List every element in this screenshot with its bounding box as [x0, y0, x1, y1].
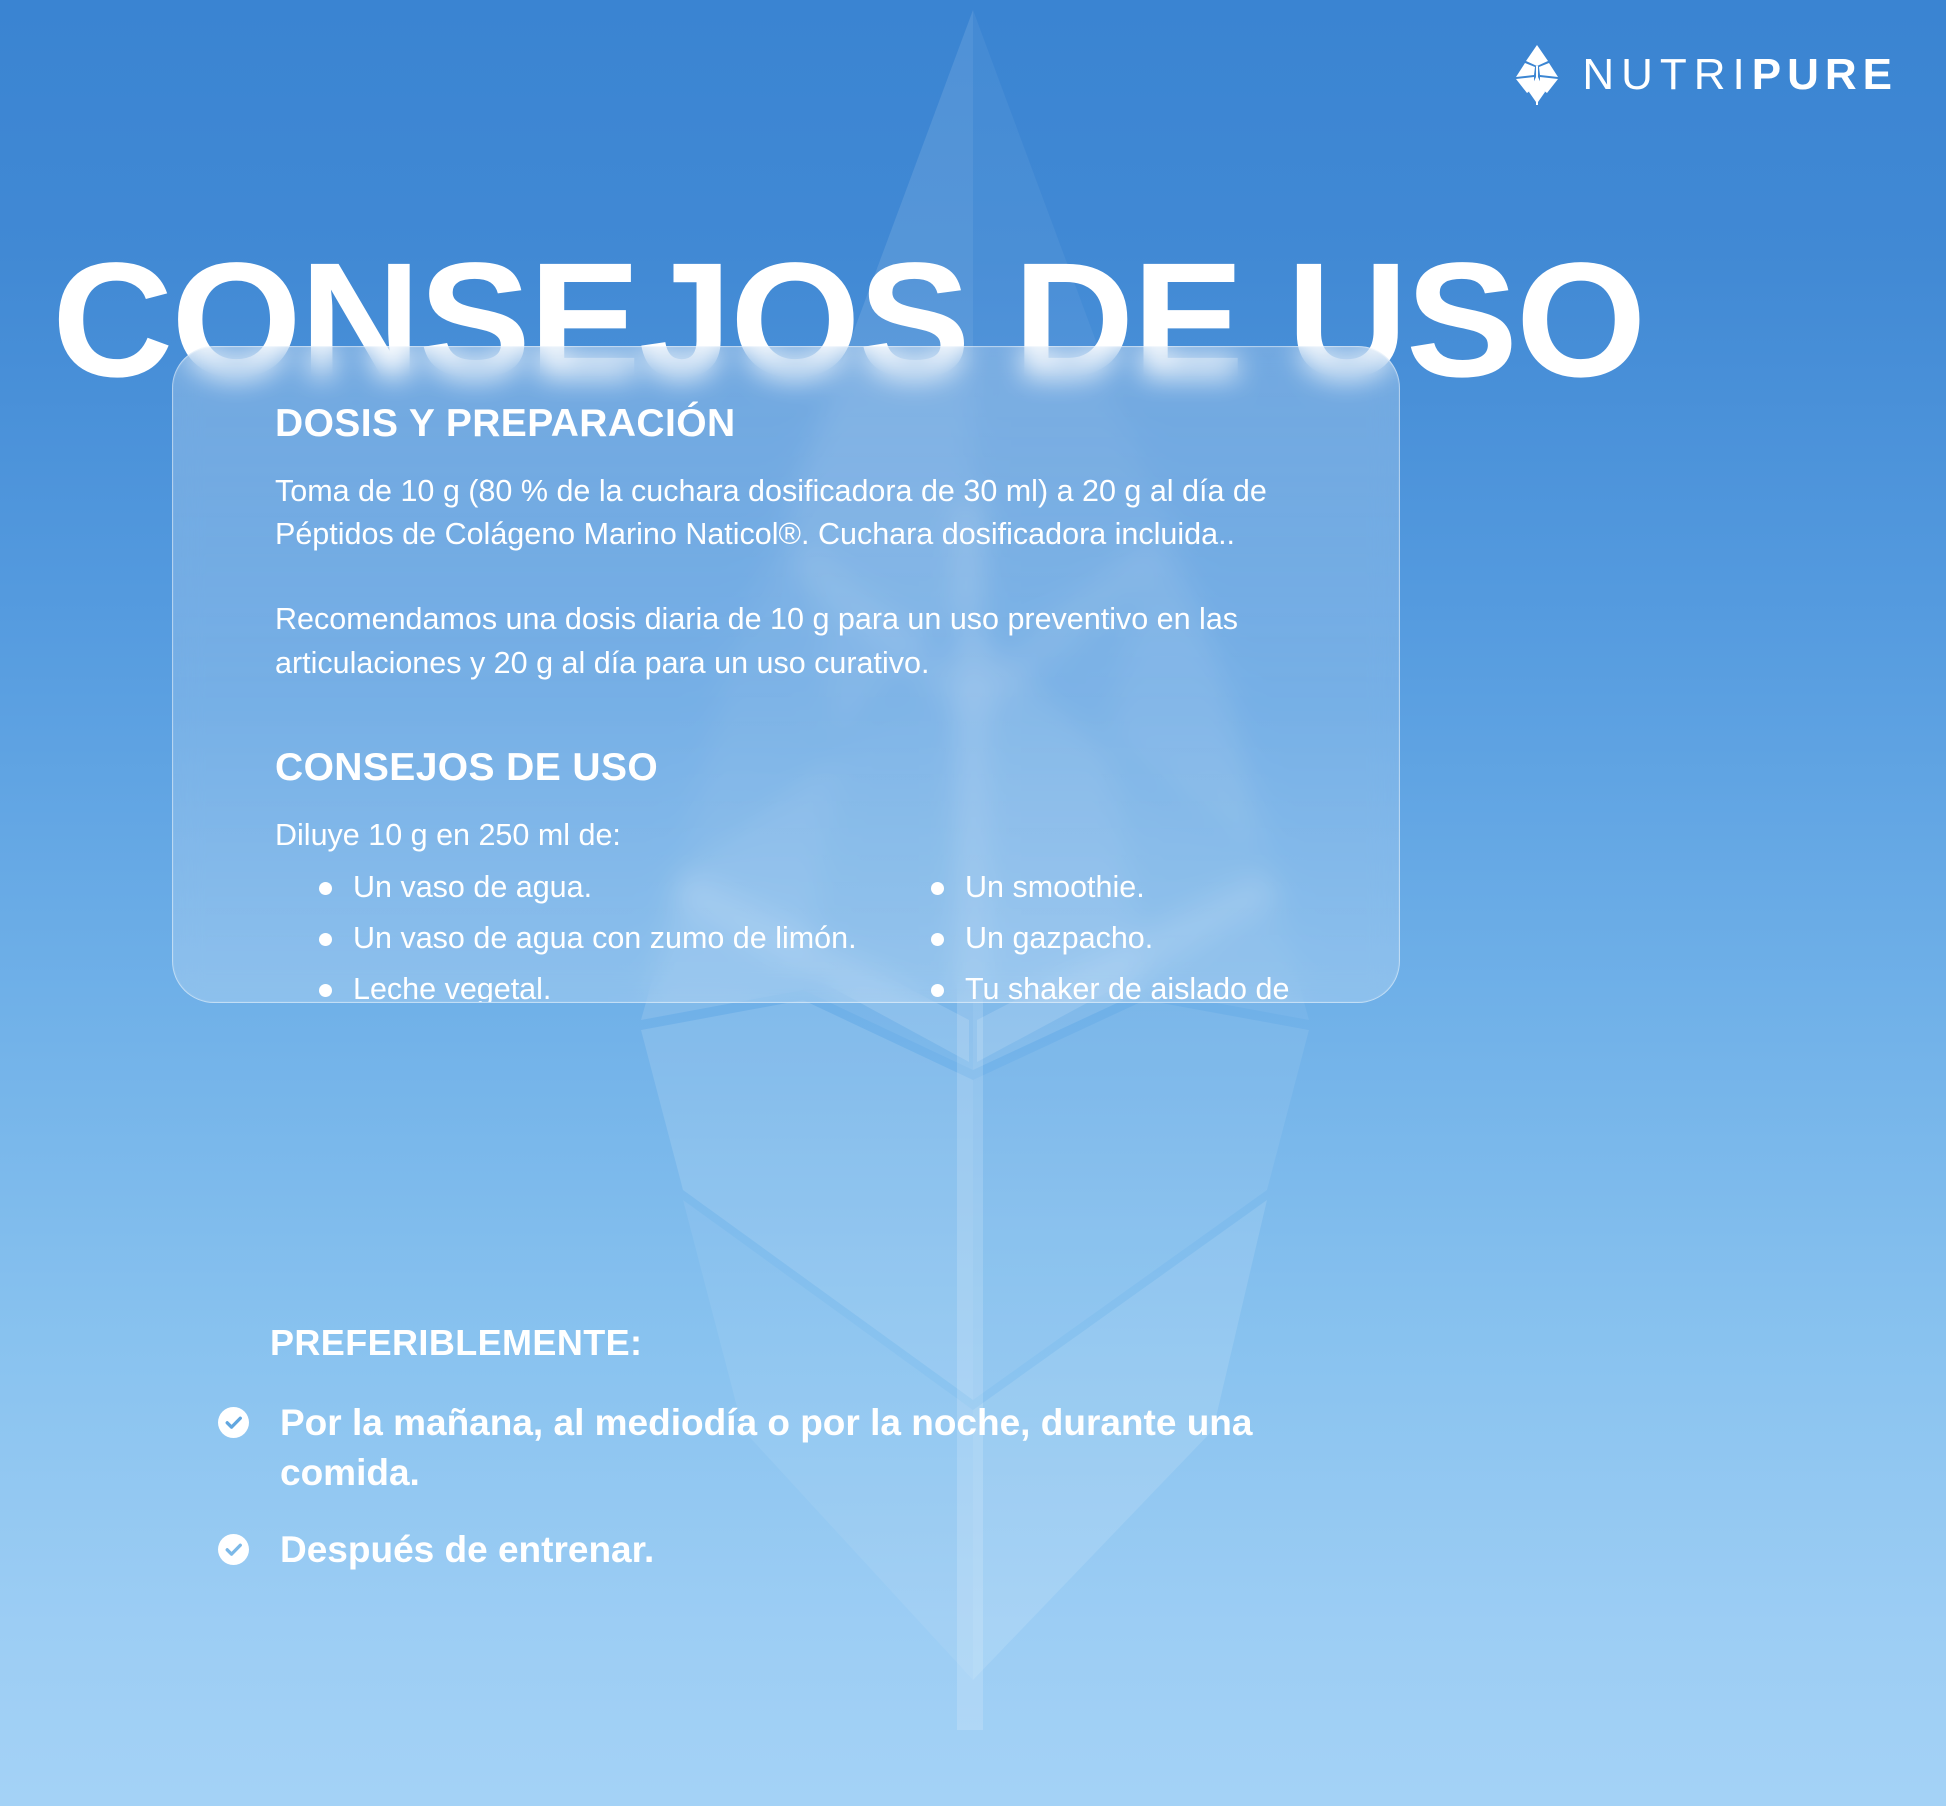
usage-lead-text: Diluye 10 g en 250 ml de:	[275, 814, 1341, 857]
list-item: Un gazpacho.	[931, 918, 1357, 960]
usage-columns: Un vaso de agua. Un vaso de agua con zum…	[275, 867, 1341, 1003]
preferred-section: PREFERIBLEMENTE: Por la mañana, al medio…	[270, 1322, 1570, 1603]
instructions-card: DOSIS Y PREPARACIÓN Toma de 10 g (80 % d…	[172, 346, 1400, 1003]
dosage-paragraph-2: Recomendamos una dosis diaria de 10 g pa…	[275, 598, 1275, 685]
leaf-icon	[1514, 44, 1560, 106]
usage-list-right: Un smoothie. Un gazpacho. Tu shaker de a…	[887, 867, 1357, 1003]
list-item: Por la mañana, al mediodía o por la noch…	[218, 1398, 1320, 1497]
brand-name-bold: PURE	[1752, 53, 1898, 97]
section-heading-dosage: DOSIS Y PREPARACIÓN	[275, 403, 1341, 446]
brand-wordmark: NUTRIPURE	[1582, 53, 1898, 97]
preferred-list: Por la mañana, al mediodía o por la noch…	[270, 1398, 1570, 1575]
poster-canvas: NUTRIPURE CONSEJOS DE USO DOSIS Y PREPAR…	[0, 0, 1946, 1806]
usage-list-left: Un vaso de agua. Un vaso de agua con zum…	[275, 867, 887, 1003]
list-item: Después de entrenar.	[218, 1525, 1320, 1575]
list-item: Tu shaker de aislado de suero de leche.	[931, 969, 1357, 1003]
usage-column-right: Un smoothie. Un gazpacho. Tu shaker de a…	[887, 867, 1357, 1003]
brand-name-light: NUTRI	[1582, 53, 1751, 97]
list-item: Leche vegetal.	[319, 969, 887, 1003]
list-item: Un vaso de agua con zumo de limón.	[319, 918, 887, 960]
list-item: Un vaso de agua.	[319, 867, 887, 909]
brand-logo: NUTRIPURE	[1514, 44, 1898, 106]
check-circle-icon	[218, 1534, 249, 1565]
list-item: Un smoothie.	[931, 867, 1357, 909]
section-heading-usage: CONSEJOS DE USO	[275, 747, 1341, 790]
preferred-item-text: Después de entrenar.	[280, 1529, 654, 1570]
usage-column-left: Un vaso de agua. Un vaso de agua con zum…	[275, 867, 887, 1003]
card-content: DOSIS Y PREPARACIÓN Toma de 10 g (80 % d…	[173, 347, 1399, 1003]
dosage-paragraph-1: Toma de 10 g (80 % de la cuchara dosific…	[275, 470, 1275, 557]
preferred-heading: PREFERIBLEMENTE:	[270, 1322, 1570, 1364]
preferred-item-text: Por la mañana, al mediodía o por la noch…	[280, 1402, 1252, 1493]
check-circle-icon	[218, 1407, 249, 1438]
